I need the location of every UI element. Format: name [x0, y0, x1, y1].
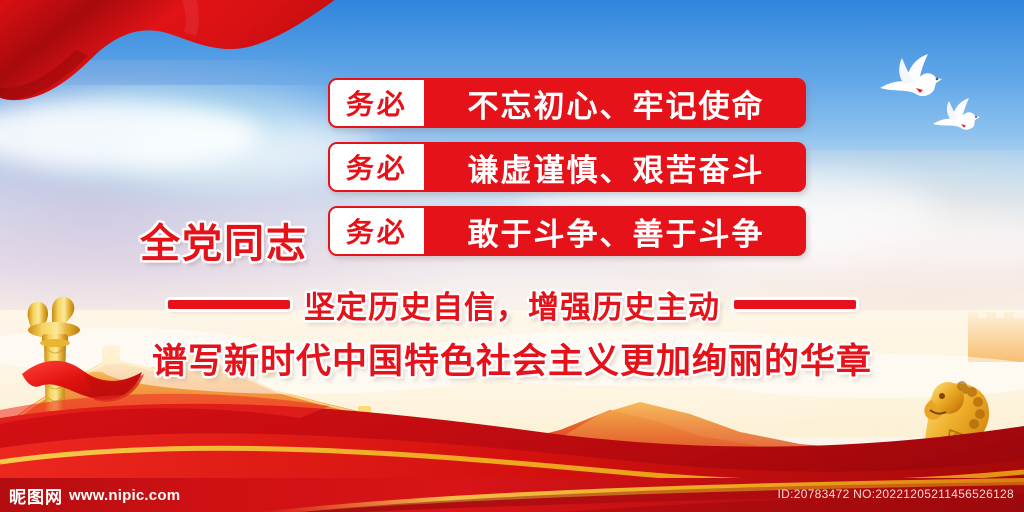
subtitle-line-1-wrap: 坚定历史自信，增强历史主动 — [0, 283, 1024, 325]
slogan-bar: 谦虚谨慎、艰苦奋斗 — [426, 142, 806, 192]
rule-right — [734, 300, 856, 309]
slogan-chip: 务必 — [328, 142, 426, 192]
slogan-bar-label: 不忘初心、牢记使命 — [468, 81, 765, 126]
slogan-chip-label: 务必 — [345, 147, 408, 187]
slogan-bar: 不忘初心、牢记使命 — [426, 78, 806, 128]
rule-left — [168, 300, 290, 309]
slogan-bar-label: 敢于斗争、善于斗争 — [468, 209, 765, 254]
asset-id-text: ID:20783472 NO:20221205211456526128 — [778, 487, 1014, 501]
subtitle-line-2: 谱写新时代中国特色社会主义更加绚丽的华章 — [0, 333, 1024, 384]
headline-block: 全党同志 务必 不忘初心、牢记使命 务必 谦虚谨慎、艰苦奋斗 — [0, 70, 1024, 270]
poster-canvas: 全党同志 务必 不忘初心、牢记使命 务必 谦虚谨慎、艰苦奋斗 — [0, 0, 1024, 512]
slogan-row: 务必 敢于斗争、善于斗争 — [328, 206, 806, 256]
slogan-row: 务必 谦虚谨慎、艰苦奋斗 — [328, 142, 806, 192]
slogan-chip: 务必 — [328, 206, 426, 256]
slogan-chip-label: 务必 — [345, 211, 408, 251]
slogan-chip: 务必 — [328, 78, 426, 128]
brand-url: www.nipic.com — [69, 487, 180, 504]
footer-bar: 昵图网 www.nipic.com ID:20783472 NO:2022120… — [0, 478, 1024, 512]
slogan-row: 务必 不忘初心、牢记使命 — [328, 78, 806, 128]
slogan-bar: 敢于斗争、善于斗争 — [426, 206, 806, 256]
subtitle-line-1: 坚定历史自信，增强历史主动 — [304, 282, 720, 327]
slogan-chip-label: 务必 — [345, 83, 408, 123]
brand-logo: 昵图网 www.nipic.com — [9, 483, 180, 508]
brand-name-cn: 昵图网 — [9, 483, 63, 508]
slogan-row-list: 务必 不忘初心、牢记使命 务必 谦虚谨慎、艰苦奋斗 务必 敢 — [328, 78, 806, 270]
page-title-left-label: 全党同志 — [140, 211, 308, 269]
slogan-bar-label: 谦虚谨慎、艰苦奋斗 — [468, 145, 765, 190]
